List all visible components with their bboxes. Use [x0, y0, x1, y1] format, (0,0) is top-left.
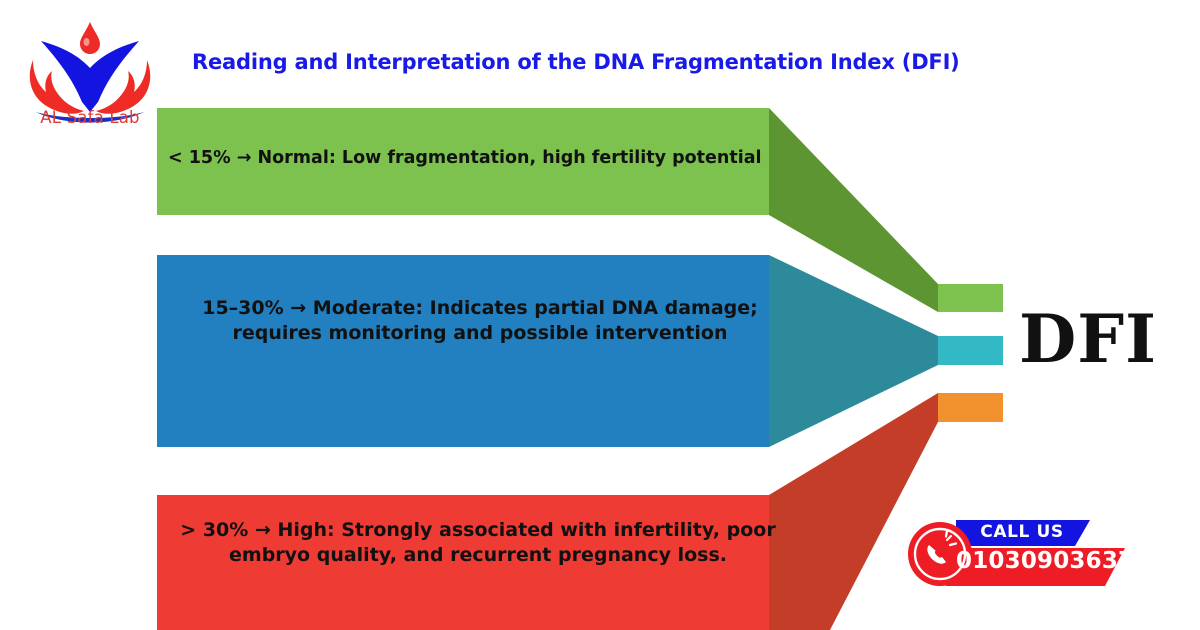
band-label-high: > 30% → High: Strongly associated with i… [168, 518, 788, 569]
dfi-output-label: DFI [1019, 306, 1157, 372]
funnel-tab-moderate [938, 336, 1003, 365]
funnel-tab-high [938, 393, 1003, 422]
band-label-moderate: 15–30% → Moderate: Indicates partial DNA… [200, 296, 760, 347]
band-moderate [157, 255, 769, 447]
funnel-tab-normal [938, 284, 1003, 312]
band-label-normal: < 15% → Normal: Low fragmentation, high … [168, 147, 764, 170]
call-us-text: CALL US [962, 522, 1082, 542]
phone-number-text[interactable]: 01030903637 [956, 548, 1131, 574]
infographic-canvas: AL Safa Lab Reading and Interpretation o… [0, 0, 1200, 630]
call-us-badge[interactable]: CALL US 01030903637 [900, 518, 1200, 590]
